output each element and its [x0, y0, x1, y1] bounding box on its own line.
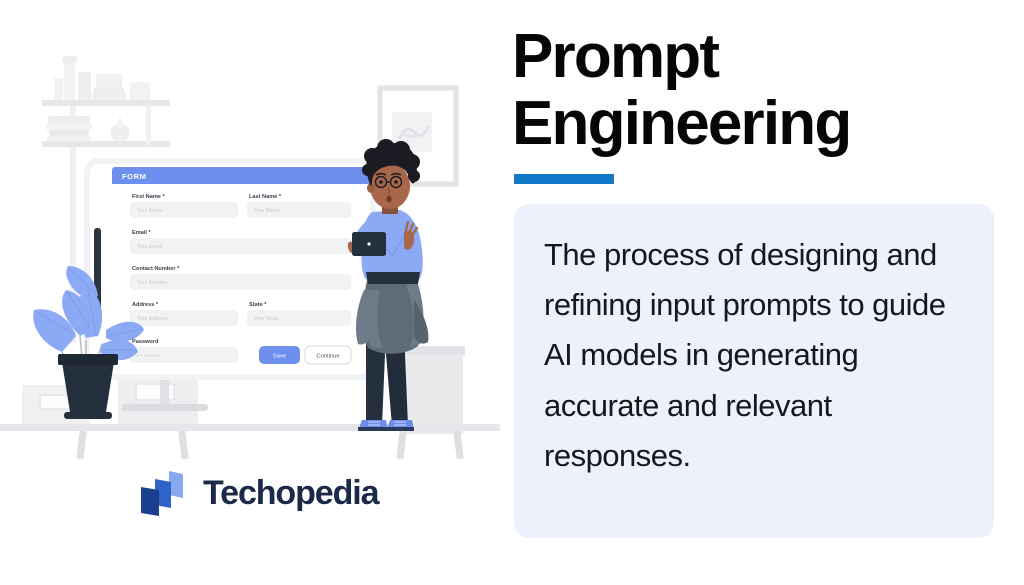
field-label-state: State *: [249, 302, 267, 308]
illustration-panel: FORM First Name * Your Name Last Name * …: [0, 0, 500, 585]
field-placeholder-address: Your Address: [137, 316, 168, 322]
field-label-contact-number: Contact Number *: [132, 266, 180, 272]
techopedia-logo: Techopedia: [138, 468, 378, 518]
slide-canvas: FORM First Name * Your Name Last Name * …: [0, 0, 1024, 585]
field-placeholder-first-name: Your Name: [137, 208, 163, 214]
field-placeholder-contact-number: Your Number: [137, 280, 168, 286]
field-label-first-name: First Name *: [132, 194, 165, 200]
page-title: Prompt Engineering: [512, 24, 1012, 158]
screen-form-content: FORM First Name * Your Name Last Name * …: [112, 167, 370, 372]
definition-text: The process of designing and refining in…: [544, 230, 964, 481]
field-label-last-name: Last Name *: [249, 194, 282, 200]
continue-button-label: Continue: [316, 354, 339, 360]
field-label-email: Email *: [132, 230, 151, 236]
field-label-address: Address *: [132, 302, 159, 308]
techopedia-wordmark: Techopedia: [203, 476, 378, 510]
field-placeholder-last-name: Your Name: [254, 208, 280, 214]
title-accent-bar: [514, 174, 614, 184]
save-button-label: Save: [273, 354, 286, 360]
field-placeholder-state: Your State: [254, 316, 278, 322]
field-label-password: Password: [132, 339, 159, 345]
field-placeholder-password: •••••••: [137, 354, 162, 360]
field-input-email[interactable]: [130, 238, 351, 254]
office-scene-illustration: FORM First Name * Your Name Last Name * …: [0, 0, 500, 470]
definition-card: The process of designing and refining in…: [514, 204, 994, 538]
techopedia-logo-icon: [138, 468, 190, 518]
content-panel: Prompt Engineering The process of design…: [512, 0, 1024, 585]
form-header-label: FORM: [122, 172, 146, 181]
field-placeholder-email: Your Email: [137, 244, 162, 250]
desk: [0, 424, 500, 459]
